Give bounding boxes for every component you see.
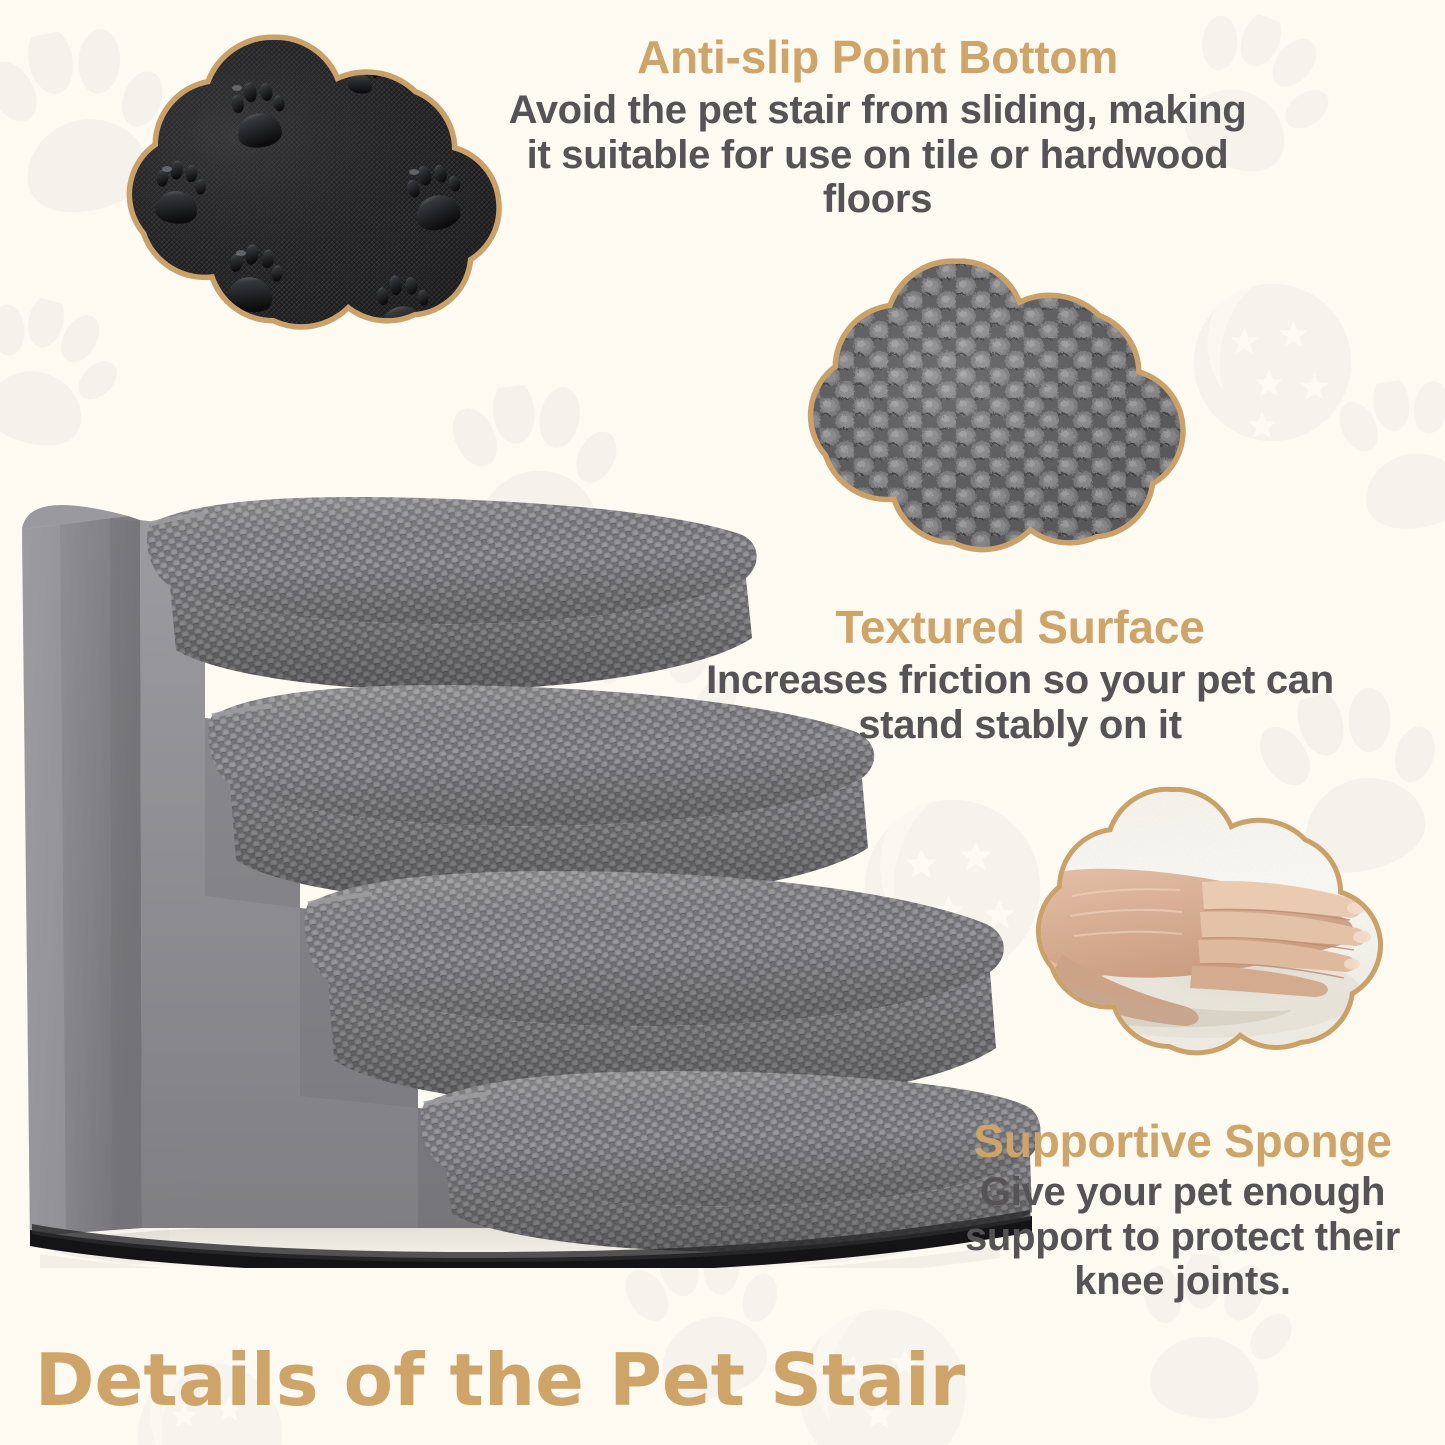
pet-stair-product-image [0, 468, 1050, 1268]
anti-slip-bottom-image [38, 26, 548, 386]
feature-block-supportive-sponge: Supportive Sponge Give your pet enough s… [930, 1118, 1435, 1304]
feature-headline-supportive-sponge: Supportive Sponge [930, 1118, 1435, 1166]
feature-description-anti-slip: Avoid the pet stair from sliding, making… [505, 88, 1250, 222]
feature-headline-anti-slip: Anti-slip Point Bottom [505, 34, 1250, 82]
feature-description-textured-surface: Increases friction so your pet can stand… [655, 658, 1385, 748]
infographic-canvas: Anti-slip Point Bottom Avoid the pet sta… [0, 0, 1445, 1445]
feature-block-textured-surface: Textured Surface Increases friction so y… [655, 604, 1385, 747]
feature-block-anti-slip: Anti-slip Point Bottom Avoid the pet sta… [505, 34, 1250, 222]
feature-headline-textured-surface: Textured Surface [655, 604, 1385, 652]
paw-watermark-icon [1319, 370, 1445, 555]
anti-slip-mat-surface [38, 26, 548, 386]
page-title: Details of the Pet Stair [0, 1338, 1000, 1422]
feature-description-supportive-sponge: Give your pet enough support to protect … [930, 1170, 1435, 1304]
